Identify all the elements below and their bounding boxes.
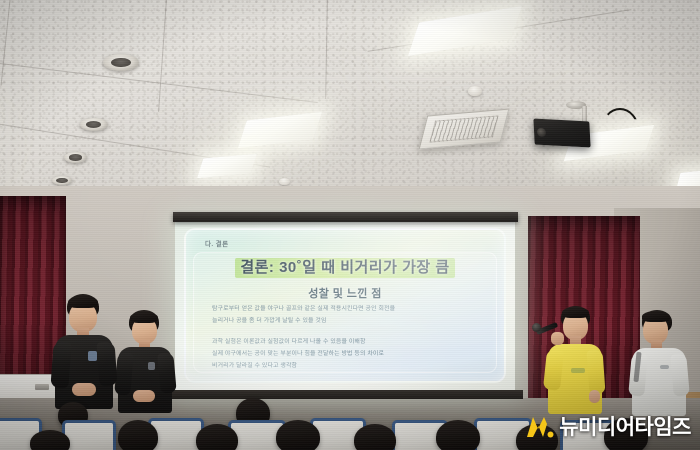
presenter-fringe — [642, 311, 670, 322]
projector-mount-pole — [582, 106, 587, 122]
recessed-ceiling-light — [80, 118, 108, 131]
slide-body-line: 늘리거나 공을 좀 더 가깝게 날릴 수 있을 것임 — [212, 316, 482, 326]
presenter-arm-right — [670, 353, 690, 396]
slide-body-spacer — [212, 328, 482, 337]
presenter-hand — [133, 390, 155, 402]
recessed-ceiling-light — [52, 176, 72, 185]
presenter-arm-left — [50, 341, 71, 388]
presenter-mic-hand — [551, 332, 564, 345]
audience-member-head — [118, 420, 158, 450]
slide-title-text: 결론: 30˚일 때 비거리가 가장 큼 — [235, 258, 454, 278]
recessed-ceiling-light — [64, 152, 87, 163]
slide-body-line: 탐구로부터 얻은 값을 야구나 골프와 같은 실제 적용시킨다면 공인 회전을 — [212, 304, 482, 314]
watermark-brand-text: 뉴미디어타임즈 — [559, 417, 691, 438]
presenter-hand — [589, 390, 600, 403]
slide-kicker: 다. 결론 — [205, 238, 229, 248]
slide-body-line: 실제 야구에서는 공이 맞는 부분이나 힘을 전달하는 방법 등의 차이로 — [212, 349, 482, 359]
lectern-slot — [35, 384, 49, 390]
microphone-head[interactable] — [532, 323, 541, 332]
presenter-right-inner — [545, 306, 607, 416]
presenter-fringe — [562, 307, 589, 318]
ac-grille — [430, 115, 500, 142]
slide-body-line: 과학 실험은 이론값과 실험값이 다르게 나올 수 있음을 이해함 — [212, 337, 482, 347]
slide-body-line: 비거리가 달라질 수 있다고 생각함 — [212, 361, 482, 371]
presenter-arm-right — [157, 352, 176, 393]
presenter-fringe — [130, 312, 158, 323]
audience-member-head — [436, 420, 480, 450]
presenter-hand — [72, 383, 96, 396]
audience-member-head — [30, 430, 70, 450]
smoke-detector — [468, 86, 482, 96]
presenter-shirt-logo — [88, 351, 97, 361]
projection-screen-bottom-bar — [168, 390, 523, 399]
presenter-shirt-logo — [148, 362, 155, 370]
audience-member-head — [276, 420, 320, 450]
audience-chair — [62, 420, 116, 450]
presenter-arm-right — [96, 341, 117, 386]
presenter-shirt-logo — [660, 365, 669, 369]
presenter-left-outer — [52, 294, 122, 414]
ceiling — [0, 0, 700, 215]
ceiling-tile-texture — [0, 0, 700, 215]
audience-member-head — [354, 424, 396, 450]
projector-lens — [537, 128, 546, 138]
slide-body: 탐구로부터 얻은 값을 야구나 골프와 같은 실제 적용시킨다면 공인 회전을 … — [212, 304, 482, 373]
presenter-fringe — [68, 296, 98, 308]
ceiling-projector — [534, 118, 591, 147]
presenter-right-outer — [630, 310, 692, 416]
projection-screen-housing — [173, 212, 518, 222]
slide-title: 결론: 30˚일 때 비거리가 가장 큼 — [186, 256, 504, 277]
recessed-ceiling-light — [103, 54, 139, 71]
projection-screen: 다. 결론 결론: 30˚일 때 비거리가 가장 큼 성찰 및 느낀 점 탐구로… — [175, 220, 515, 392]
audience-member-head — [196, 424, 238, 450]
newmedia-times-logo-icon — [525, 414, 555, 440]
presentation-slide: 다. 결론 결론: 30˚일 때 비거리가 가장 큼 성찰 및 느낀 점 탐구로… — [184, 228, 506, 383]
slide-subtitle: 성찰 및 느낀 점 — [186, 285, 504, 301]
watermark: 뉴미디어타임즈 — [525, 414, 691, 440]
presenter-arm-right — [586, 349, 605, 394]
presenter-shirt-logo — [571, 368, 585, 373]
auditorium-photo: 다. 결론 결론: 30˚일 때 비거리가 가장 큼 성찰 및 느낀 점 탐구로… — [0, 0, 700, 450]
presenter-left-inner — [116, 310, 180, 414]
